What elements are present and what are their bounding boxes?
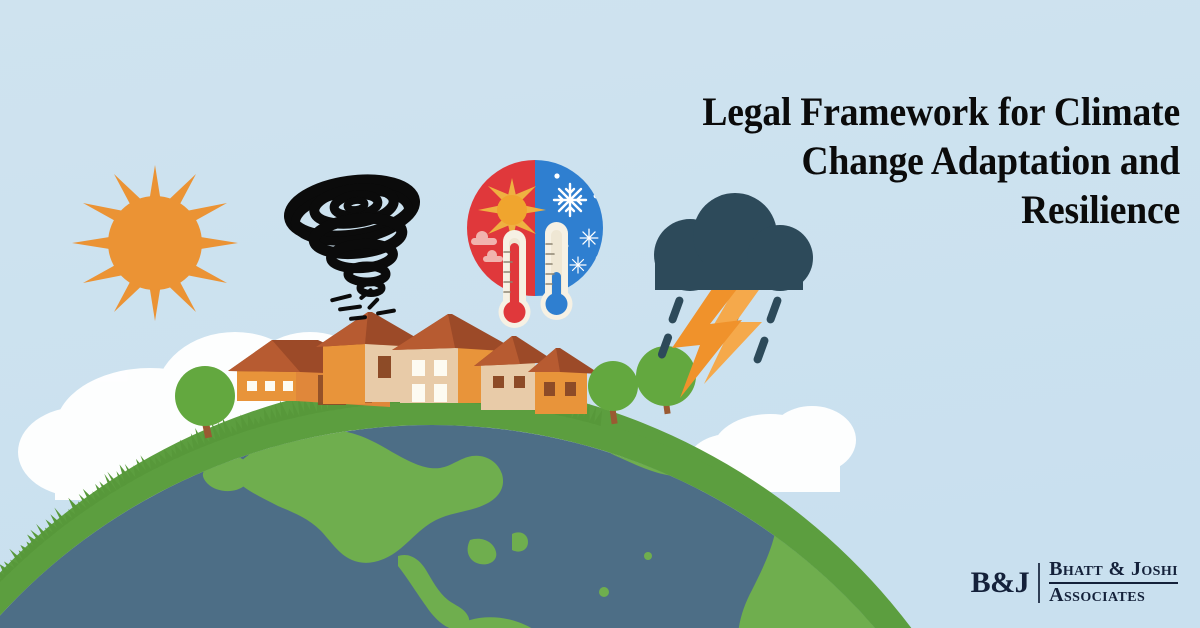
logo-divider — [1038, 563, 1040, 603]
logo-firm-name: Bhatt & Joshi — [1049, 559, 1178, 580]
climate-banner: Legal Framework for Climate Change Adapt… — [0, 0, 1200, 628]
page-title: Legal Framework for Climate Change Adapt… — [654, 88, 1180, 234]
logo-wordmark: Bhatt & Joshi Associates — [1049, 559, 1178, 606]
thermometer-cold — [541, 222, 573, 320]
logo-monogram: B&J — [971, 568, 1039, 598]
banner-title-block: Legal Framework for Climate Change Adapt… — [620, 88, 1180, 234]
thermometer-hot — [499, 230, 531, 328]
brand-logo[interactable]: B&J Bhatt & Joshi Associates — [971, 559, 1178, 606]
logo-firm-suffix: Associates — [1049, 582, 1178, 606]
